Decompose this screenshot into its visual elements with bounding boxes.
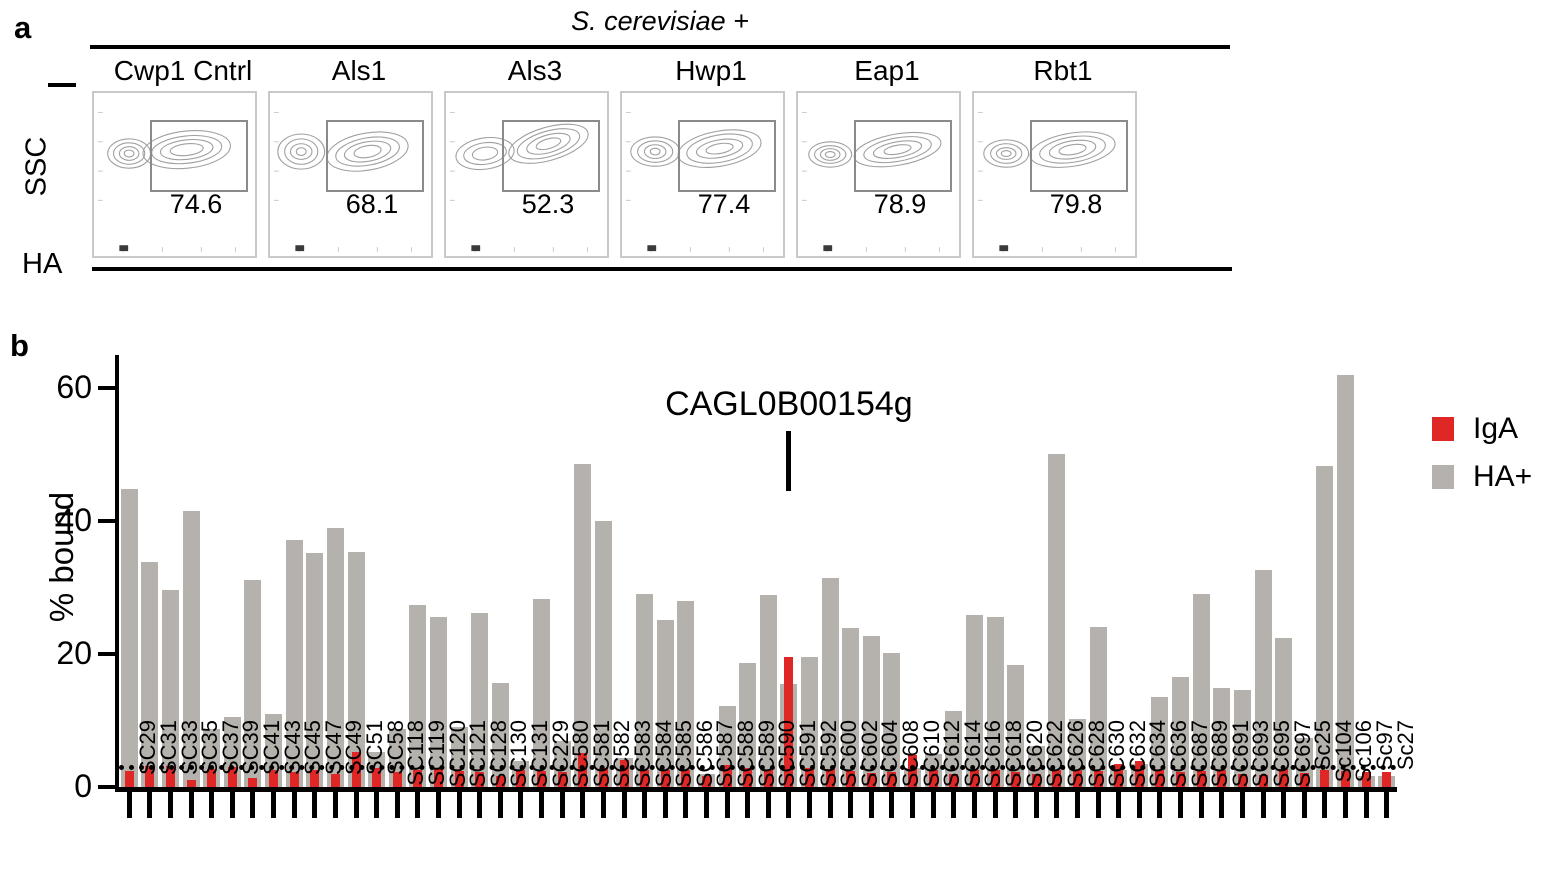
flow-panel-title: Rbt1 bbox=[972, 55, 1154, 89]
panel-a-label: a bbox=[14, 12, 31, 43]
chart-legend: IgA HA+ bbox=[1432, 405, 1552, 501]
flow-panel-title: Cwp1 Cntrl bbox=[92, 55, 274, 89]
gate-rectangle bbox=[502, 120, 600, 192]
panel-a-y-axis-label: SSC bbox=[21, 122, 54, 212]
gate-percentage: 74.6 bbox=[140, 189, 252, 220]
flow-panel-als3: Als3 bbox=[444, 55, 626, 258]
y-axis-tick bbox=[98, 386, 119, 390]
x-axis-tick bbox=[127, 792, 132, 818]
flow-plot-area: 79.8 bbox=[972, 91, 1137, 258]
panel-a-x-axis-rule bbox=[92, 267, 1232, 271]
flow-panel-hwp1: Hwp1 bbox=[620, 55, 802, 258]
legend-label-iga: IgA bbox=[1473, 414, 1518, 444]
gate-percentage: 68.1 bbox=[316, 189, 428, 220]
flow-panel-title: Hwp1 bbox=[620, 55, 802, 89]
gate-rectangle bbox=[854, 120, 952, 192]
panel-b-bar-chart: b % bound 0204060 CAGL0B00154g SC29SC31S… bbox=[0, 300, 1560, 880]
panel-a-flow-cytometry: a S. cerevisiae + SSC HA Cwp1 Cntrl bbox=[0, 0, 1560, 300]
flow-panel-als1: Als1 bbox=[268, 55, 450, 258]
flow-panel-cwp1-cntrl: Cwp1 Cntrl bbox=[92, 55, 274, 258]
flow-panel-title: Als1 bbox=[268, 55, 450, 89]
flow-plot-area: 52.3 bbox=[444, 91, 609, 258]
gate-percentage: 79.8 bbox=[1020, 189, 1132, 220]
y-axis-tick bbox=[98, 519, 119, 523]
gate-rectangle bbox=[150, 120, 248, 192]
y-axis-tick-label: 0 bbox=[20, 770, 92, 802]
gate-rectangle bbox=[1030, 120, 1128, 192]
flow-plot-area: 78.9 bbox=[796, 91, 961, 258]
legend-swatch-ha bbox=[1432, 465, 1454, 489]
panel-a-x-axis-label: HA bbox=[22, 248, 62, 281]
gene-annotation-pointer bbox=[786, 431, 791, 491]
gate-percentage: 52.3 bbox=[492, 189, 604, 220]
panel-a-header: S. cerevisiae + bbox=[90, 6, 1230, 37]
x-axis-tick-label: Sc27 bbox=[1395, 720, 1417, 820]
y-axis-tick-label: 40 bbox=[20, 504, 92, 536]
gene-annotation-label: CAGL0B00154g bbox=[624, 385, 954, 424]
flow-panel-title: Als3 bbox=[444, 55, 626, 89]
panel-b-label: b bbox=[10, 330, 29, 361]
legend-label-ha: HA+ bbox=[1473, 462, 1532, 492]
x-axis-tick-labels: SC29SC31SC33SC35SC37SC39SC41SC43SC45SC47… bbox=[119, 820, 1397, 880]
flow-plot-area: 77.4 bbox=[620, 91, 785, 258]
y-axis-tick-label: 20 bbox=[20, 637, 92, 669]
panel-a-header-rule bbox=[90, 45, 1230, 49]
legend-item-ha: HA+ bbox=[1432, 453, 1552, 501]
gate-rectangle bbox=[326, 120, 424, 192]
panel-a-y-axis-tick bbox=[48, 83, 76, 87]
legend-swatch-iga bbox=[1432, 417, 1454, 441]
legend-item-iga: IgA bbox=[1432, 405, 1552, 453]
flow-panel-eap1: Eap1 bbox=[796, 55, 978, 258]
gate-rectangle bbox=[678, 120, 776, 192]
flow-panel-rbt1: Rbt1 bbox=[972, 55, 1154, 258]
gate-percentage: 77.4 bbox=[668, 189, 780, 220]
bar-iga bbox=[125, 771, 134, 787]
flow-panel-title: Eap1 bbox=[796, 55, 978, 89]
y-axis-tick-label: 60 bbox=[20, 371, 92, 403]
flow-plot-area: 68.1 bbox=[268, 91, 433, 258]
y-axis-tick bbox=[98, 652, 119, 656]
flow-plot-area: 74.6 bbox=[92, 91, 257, 258]
y-axis-title: % bound bbox=[43, 447, 81, 667]
figure-root: a S. cerevisiae + SSC HA Cwp1 Cntrl bbox=[0, 0, 1560, 880]
y-axis-tick bbox=[98, 785, 119, 789]
gate-percentage: 78.9 bbox=[844, 189, 956, 220]
